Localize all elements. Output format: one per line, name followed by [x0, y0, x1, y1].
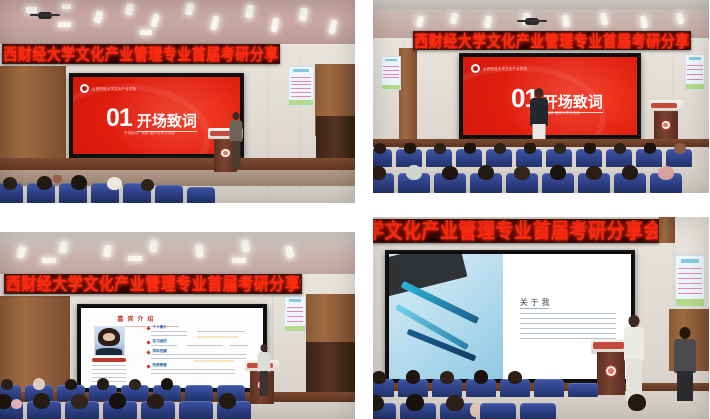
- wall-poster: [284, 296, 306, 332]
- slide-opening-remarks: 山西财经大学文化产业学院 01 开场致词 开场致词 · 致辞 嘉宾分享交流会: [463, 57, 637, 135]
- wall-poster-right: [685, 54, 705, 90]
- stage-led-screen: 山西财经大学文化产业学院 01 开场致词 开场致词 · 致辞 嘉宾分享交流会: [459, 53, 641, 139]
- podium: [649, 100, 683, 144]
- led-banner-top-right: 山西财经大学文化产业管理专业首届考研分享会: [413, 31, 691, 50]
- slide-title: 开场致词: [543, 95, 603, 113]
- university-logo-icon: [80, 84, 89, 93]
- wall-poster: [675, 255, 705, 307]
- slide-subtitle: 开场致词 · 致辞 嘉宾分享交流会: [124, 131, 175, 136]
- audience-seating: [0, 374, 355, 419]
- banner-text: 山西财经大学文化产业管理专业首届考研分享会: [2, 46, 280, 63]
- about-slide-heading: 关于我: [520, 297, 553, 308]
- photo-grid: 山西财经大学文化产业管理专业首届考研分享会 山西财经大学文化产业学院 01 开场…: [0, 0, 710, 419]
- led-banner-top-left: 山西财经大学文化产业管理专业首届考研分享会: [2, 44, 280, 64]
- wall-poster: [381, 56, 401, 90]
- university-logo-icon: [471, 64, 480, 73]
- ceiling-fan-icon: [525, 18, 539, 25]
- podium-seal: [661, 120, 672, 130]
- wall-poster: [288, 66, 314, 106]
- slide-number: 01: [106, 107, 132, 130]
- audience-seating: [373, 367, 709, 419]
- photo-bottom-left: 山西财经大学文化产业管理专业首届考研分享会 嘉宾介绍: [0, 232, 355, 419]
- audience-seating: [373, 143, 709, 193]
- slide-title: 开场致词: [137, 114, 197, 132]
- speaker-person: [228, 112, 244, 168]
- audience-seating: [0, 175, 355, 203]
- pencil-photo: [389, 254, 503, 379]
- photo-bottom-right: 学文化产业管理专业首届考研分享会: [373, 217, 709, 419]
- led-banner-bottom-right: 学文化产业管理专业首届考研分享会: [373, 219, 659, 243]
- ceiling-fan-icon: [38, 12, 52, 19]
- banner-text: 学文化产业管理专业首届考研分享会: [373, 220, 659, 241]
- profile-portrait: [94, 326, 125, 356]
- banner-text: 山西财经大学文化产业管理专业首届考研分享会: [4, 275, 302, 293]
- slide-logo-text: 山西财经大学文化产业学院: [92, 86, 136, 91]
- photo-top-left: 山西财经大学文化产业管理专业首届考研分享会 山西财经大学文化产业学院 01 开场…: [0, 0, 355, 203]
- slide-logo-text: 山西财经大学文化产业学院: [483, 66, 527, 71]
- profile-name-chip: [92, 358, 127, 362]
- photo-top-right: 山西财经大学文化产业管理专业首届考研分享会 山西财经大学文化产业学院 01 开场…: [373, 0, 709, 193]
- led-banner-bottom-left: 山西财经大学文化产业管理专业首届考研分享会: [4, 274, 302, 294]
- banner-text: 山西财经大学文化产业管理专业首届考研分享会: [413, 32, 691, 49]
